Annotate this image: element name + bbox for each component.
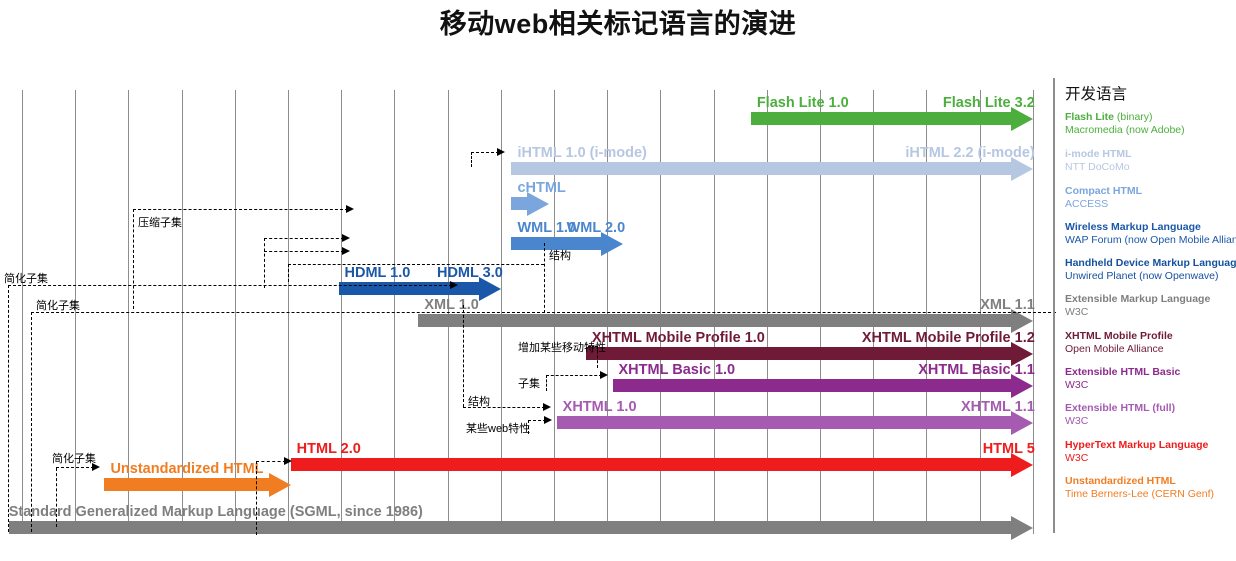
connector-line	[546, 375, 547, 391]
bar-body	[291, 458, 1011, 471]
annotation-label: 子集	[518, 375, 540, 391]
connector-line	[264, 251, 344, 252]
connector-line	[8, 285, 452, 286]
legend-panel: 开发语言 Flash Lite (binary)Macromedia (now …	[1053, 78, 1236, 533]
connector-line	[288, 264, 544, 265]
annotation-label: 简化子集	[36, 297, 80, 313]
connector-line	[133, 209, 134, 309]
legend-item-2: Compact HTMLACCESS	[1065, 185, 1235, 210]
connector-arrow	[284, 457, 292, 465]
annotation-label: 简化子集	[52, 450, 96, 466]
connector-line	[56, 468, 57, 527]
legend-item-org: Open Mobile Alliance	[1065, 343, 1235, 356]
bar-end-label-hdml: HDML 3.0	[437, 265, 503, 281]
bar-end-label-xhtml-basic: XHTML Basic 1.1	[918, 362, 1035, 378]
bar-body	[104, 478, 268, 491]
legend-item-7: Extensible HTML BasicW3C	[1065, 366, 1235, 391]
connector-line	[544, 243, 545, 313]
legend-item-3: Wireless Markup LanguageWAP Forum (now O…	[1065, 221, 1235, 246]
legend-item-org: ACCESS	[1065, 198, 1235, 211]
legend-item-name: Unstandardized HTML	[1065, 475, 1235, 488]
legend-item-6: XHTML Mobile ProfileOpen Mobile Alliance	[1065, 330, 1235, 355]
bar-body	[511, 197, 526, 210]
timeline-bar-unstandardized-html	[104, 478, 290, 491]
connector-line	[56, 467, 94, 468]
connector-arrow	[544, 416, 552, 424]
bar-start-label-html: HTML 2.0	[297, 441, 361, 457]
timeline-bar-ihtml	[511, 162, 1032, 175]
connector-arrow	[450, 281, 458, 289]
annotation-label: 结构	[468, 393, 490, 409]
timeline-plot: Flash Lite 1.0Flash Lite 3.2iHTML 1.0 (i…	[0, 90, 1060, 540]
timeline-bar-xhtml-mobile-profile	[586, 347, 1033, 360]
legend-item-org: W3C	[1065, 452, 1235, 465]
legend-item-org: Macromedia (now Adobe)	[1065, 124, 1235, 137]
bar-body	[586, 347, 1011, 360]
connector-line	[463, 305, 464, 407]
gridline-1990	[22, 90, 23, 534]
bar-body	[511, 162, 1010, 175]
bar-body	[9, 521, 1011, 534]
legend-item-name: Extensible Markup Language	[1065, 293, 1235, 306]
annotation-label: 增加某些移动特性	[518, 339, 606, 355]
bar-arrowhead-icon	[269, 473, 291, 497]
connector-line	[133, 209, 348, 210]
connector-line	[264, 238, 265, 288]
annotation-label: 简化子集	[4, 270, 48, 286]
legend-item-name: Flash Lite (binary)	[1065, 111, 1235, 124]
legend-item-name: i-mode HTML	[1065, 148, 1235, 161]
bar-end-label-html: HTML 5	[983, 441, 1035, 457]
bar-start-label-ihtml: iHTML 1.0 (i-mode)	[517, 145, 646, 161]
legend-item-name: Wireless Markup Language	[1065, 221, 1235, 234]
connector-line	[471, 152, 472, 167]
bar-end-label-ihtml: iHTML 2.2 (i-mode)	[905, 145, 1034, 161]
bar-start-label-sgml: Standard Generalized Markup Language (SG…	[9, 504, 423, 520]
bar-body	[418, 314, 1010, 327]
bar-start-label-unstandardized-html: Unstandardized HTML	[110, 461, 263, 477]
bar-start-label-xhtml: XHTML 1.0	[563, 399, 637, 415]
legend-item-org: NTT DoCoMo	[1065, 161, 1235, 174]
connector-line	[256, 461, 257, 535]
timeline-bar-xhtml	[557, 416, 1033, 429]
connector-line	[8, 285, 9, 532]
timeline-bar-sgml	[9, 521, 1033, 534]
legend-item-org: W3C	[1065, 306, 1235, 319]
bar-body	[751, 112, 1011, 125]
connector-arrow	[497, 148, 505, 156]
timeline-diagram: 移动web相关标记语言的演进 Flash Lite 1.0Flash Lite …	[0, 0, 1236, 561]
timeline-bar-xml	[418, 314, 1032, 327]
legend-item-name: HyperText Markup Language	[1065, 439, 1235, 452]
bar-end-label-flash-lite: Flash Lite 3.2	[943, 95, 1035, 111]
connector-line	[31, 312, 32, 532]
connector-arrow	[346, 205, 354, 213]
legend-divider	[1053, 78, 1055, 533]
bar-start-label-hdml: HDML 1.0	[345, 265, 411, 281]
legend-item-name: XHTML Mobile Profile	[1065, 330, 1235, 343]
legend-item-9: HyperText Markup LanguageW3C	[1065, 439, 1235, 464]
bar-end-label-xhtml-mobile-profile: XHTML Mobile Profile 1.2	[862, 330, 1035, 346]
legend-item-0: Flash Lite (binary)Macromedia (now Adobe…	[1065, 111, 1235, 136]
connector-arrow	[342, 247, 350, 255]
bar-start-label-chtml: cHTML	[517, 180, 565, 196]
connector-arrow	[342, 234, 350, 242]
connector-line	[288, 264, 289, 282]
legend-item-name: Extensible HTML Basic	[1065, 366, 1235, 379]
annotation-label: 某些web特性	[466, 420, 530, 436]
connector-line	[256, 461, 286, 462]
bar-end-label-xhtml: XHTML 1.1	[961, 399, 1035, 415]
legend-item-name: Compact HTML	[1065, 185, 1235, 198]
legend-item-org: W3C	[1065, 379, 1235, 392]
connector-line	[471, 152, 499, 153]
timeline-bar-hdml	[339, 282, 501, 295]
bar-arrowhead-icon	[1011, 516, 1033, 540]
annotation-label: 压缩子集	[138, 214, 182, 230]
connector-line	[546, 375, 602, 376]
legend-item-10: Unstandardized HTMLTime Berners-Lee (CER…	[1065, 475, 1235, 500]
timeline-bar-chtml	[511, 197, 548, 210]
legend-heading: 开发语言	[1065, 82, 1127, 104]
legend-item-1: i-mode HTMLNTT DoCoMo	[1065, 148, 1235, 173]
bar-body	[557, 416, 1011, 429]
connector-arrow	[600, 371, 608, 379]
bar-start-label-xhtml-mobile-profile: XHTML Mobile Profile 1.0	[592, 330, 765, 346]
legend-item-org: Unwired Planet (now Openwave)	[1065, 270, 1235, 283]
bar-start-label-flash-lite: Flash Lite 1.0	[757, 95, 849, 111]
legend-item-org: Time Berners-Lee (CERN Genf)	[1065, 488, 1235, 501]
timeline-bar-flash-lite	[751, 112, 1033, 125]
bar-start-label-xml: XML 1.0	[424, 297, 479, 313]
legend-item-5: Extensible Markup LanguageW3C	[1065, 293, 1235, 318]
page-title: 移动web相关标记语言的演进	[0, 2, 1236, 41]
connector-arrow	[543, 403, 551, 411]
legend-item-8: Extensible HTML (full)W3C	[1065, 402, 1235, 427]
legend-item-4: Handheld Device Markup LanguageUnwired P…	[1065, 257, 1235, 282]
annotation-label: 结构	[549, 247, 571, 263]
connector-line	[264, 238, 344, 239]
bar-end-label-xml: XML 1.1	[980, 297, 1035, 313]
legend-item-name: Extensible HTML (full)	[1065, 402, 1235, 415]
legend-item-org: W3C	[1065, 415, 1235, 428]
bar-body	[613, 379, 1011, 392]
bar-end-label-wml: WML 2.0	[567, 220, 626, 236]
legend-item-name: Handheld Device Markup Language	[1065, 257, 1235, 270]
timeline-bar-xhtml-basic	[613, 379, 1033, 392]
timeline-bar-html	[291, 458, 1033, 471]
legend-item-org: WAP Forum (now Open Mobile Alliance)	[1065, 234, 1235, 247]
bar-start-label-xhtml-basic: XHTML Basic 1.0	[619, 362, 736, 378]
legend-item-name-suffix: (binary)	[1114, 111, 1153, 123]
